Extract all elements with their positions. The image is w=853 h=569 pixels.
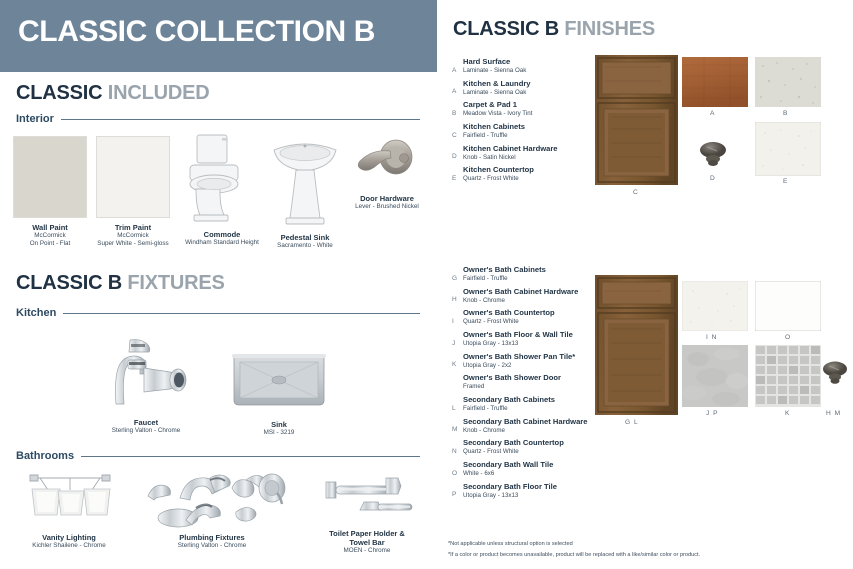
pedestal-sink-caption: Pedestal Sink Sacramento - White <box>255 233 355 250</box>
bathrooms-label: Bathrooms <box>16 450 74 462</box>
legend-letter: K <box>452 361 463 369</box>
door-hardware-caption: Door Hardware Lever - Brushed Nickel <box>336 194 438 211</box>
cabinet-knob-icon <box>693 138 733 172</box>
legend-letter: N <box>452 448 463 456</box>
swatch-quartz-e: E <box>755 122 821 181</box>
swatch-label-c: C <box>633 189 639 196</box>
legend-sub: Quartz - Frost White <box>463 318 555 325</box>
legend-letter: P <box>452 491 463 499</box>
item-door-hardware: Door Hardware Lever - Brushed Nickel <box>350 133 438 211</box>
swatch-label-o: O <box>785 334 791 341</box>
legend-letter: B <box>452 110 463 118</box>
swatch-label-gl: G L <box>625 419 639 426</box>
legend-letter: C <box>452 132 463 140</box>
item-sink: Sink MSI - 3219 <box>232 352 326 437</box>
swatch-laminate-a: A <box>682 57 748 112</box>
plumbing-fixtures-icon <box>140 472 300 530</box>
legend-name: Owner's Bath Cabinet Hardware <box>463 288 578 297</box>
swatch-floor-tile-jp: J P <box>682 345 748 412</box>
item-wall-paint: Wall Paint McCormick On Point - Flat <box>13 136 87 247</box>
item-sub1: Sterling Valton - Chrome <box>91 427 201 435</box>
legend-letter: H <box>452 296 463 304</box>
swatch-label-b: B <box>783 110 788 117</box>
cabinet-knob-icon <box>818 358 852 390</box>
legend-name: Secondary Bath Cabinets <box>463 396 555 405</box>
commode-icon <box>182 131 262 223</box>
towel-bar-icon <box>320 474 414 522</box>
item-sub1: McCormick <box>13 232 87 240</box>
pedestal-sink-icon <box>270 136 340 226</box>
swatch-label-jp: J P <box>706 410 719 417</box>
legend-letter: A <box>452 67 463 75</box>
trim-paint-swatch <box>96 136 170 218</box>
legend-item: A Kitchen & Laundry Laminate - Sienna Oa… <box>452 80 612 96</box>
collection-sheet: CLASSIC COLLECTION B CLASSIC INCLUDED In… <box>0 0 853 569</box>
legend-sub: Laminate - Sienna Oak <box>463 67 526 74</box>
legend-item: D Kitchen Cabinet Hardware Knob - Satin … <box>452 145 612 161</box>
cabinet-door-icon <box>595 275 678 415</box>
legend-sub: Framed <box>463 383 561 390</box>
legend-sub: Utopia Gray - 13x13 <box>463 340 573 347</box>
footnote-2: *If a color or product becomes unavailab… <box>448 552 700 558</box>
wall-paint-caption: Wall Paint McCormick On Point - Flat <box>13 223 87 247</box>
swatch-mosaic-k: K <box>755 345 821 412</box>
faucet-caption: Faucet Sterling Valton - Chrome <box>91 418 201 435</box>
legend-sub: Knob - Satin Nickel <box>463 154 558 161</box>
classic-finishes-heading: CLASSIC B FINISHES <box>453 18 655 41</box>
heading-dark: CLASSIC B <box>453 18 559 40</box>
legend-sub: White - 6x6 <box>463 470 553 477</box>
swatch-kitchen-cabinet-door: C <box>595 55 678 190</box>
swatch-label-e: E <box>783 178 788 185</box>
legend-item: B Carpet & Pad 1 Meadow Vista - Ivory Ti… <box>452 101 612 117</box>
legend-letter: G <box>452 275 463 283</box>
sink-icon <box>232 352 326 412</box>
legend-letter: J <box>452 340 463 348</box>
item-name: Vanity Lighting <box>13 533 125 542</box>
wall-paint-swatch <box>13 136 87 218</box>
footnote-1: *Not applicable unless structural option… <box>448 541 573 547</box>
classic-fixtures-heading: CLASSIC B FIXTURES <box>16 272 225 295</box>
towel-bar-caption: Toilet Paper Holder & Towel Bar MOEN - C… <box>306 529 428 555</box>
legend-item: N Secondary Bath Countertop Quartz - Fro… <box>452 439 627 455</box>
item-plumbing-fixtures: Plumbing Fixtures Sterling Valton - Chro… <box>140 472 300 550</box>
page-title: CLASSIC COLLECTION B <box>18 15 375 49</box>
legend-name: Owner's Bath Floor & Wall Tile <box>463 331 573 340</box>
item-name: Pedestal Sink <box>255 233 355 242</box>
legend-name: Hard Surface <box>463 58 526 67</box>
divider-rule <box>81 456 420 457</box>
item-sub1: Sterling Valton - Chrome <box>150 542 274 550</box>
legend-sub: Knob - Chrome <box>463 427 588 434</box>
mosaic-tile-swatch-icon <box>755 345 821 407</box>
finishes-legend-top: A Hard Surface Laminate - Sienna Oak A K… <box>452 58 612 188</box>
legend-item: C Kitchen Cabinets Fairfield - Truffle <box>452 123 612 139</box>
divider-rule <box>63 313 420 314</box>
legend-name: Owner's Bath Cabinets <box>463 266 546 275</box>
item-name: Door Hardware <box>336 194 438 203</box>
legend-name: Owner's Bath Countertop <box>463 309 555 318</box>
kitchen-label: Kitchen <box>16 307 56 319</box>
swatch-label-a: A <box>710 110 715 117</box>
item-sub1: Sacramento - White <box>255 242 355 250</box>
legend-sub: Quartz - Frost White <box>463 175 534 182</box>
legend-item: A Hard Surface Laminate - Sienna Oak <box>452 58 612 74</box>
legend-name: Secondary Bath Countertop <box>463 439 564 448</box>
carpet-swatch-icon <box>755 57 821 107</box>
heading-dark: CLASSIC <box>16 82 102 104</box>
item-pedestal-sink: Pedestal Sink Sacramento - White <box>270 136 355 250</box>
legend-letter: L <box>452 405 463 413</box>
legend-name: Secondary Bath Cabinet Hardware <box>463 418 588 427</box>
swatch-bath-cabinet-door: G L <box>595 275 678 420</box>
sink-caption: Sink MSI - 3219 <box>232 420 326 437</box>
legend-name: Secondary Bath Floor Tile <box>463 483 557 492</box>
item-name: Wall Paint <box>13 223 87 232</box>
legend-sub: Meadow Vista - Ivory Tint <box>463 110 532 117</box>
item-sub1: MSI - 3219 <box>232 429 326 437</box>
bathrooms-subheader: Bathrooms <box>16 450 420 462</box>
right-column: CLASSIC B FINISHES A Hard Surface Lamina… <box>448 0 853 569</box>
swatch-label-d: D <box>710 175 716 182</box>
legend-letter: O <box>452 470 463 478</box>
quartz-swatch-icon <box>682 281 748 331</box>
legend-sub: Fairfield - Truffle <box>463 275 546 282</box>
legend-name: Owner's Bath Shower Door <box>463 374 561 383</box>
swatch-quartz-in: I N <box>682 281 748 336</box>
door-lever-icon <box>350 133 422 185</box>
swatch-carpet-b: B <box>755 57 821 112</box>
plumbing-caption: Plumbing Fixtures Sterling Valton - Chro… <box>150 533 274 550</box>
item-sub1: MOEN - Chrome <box>306 547 428 555</box>
legend-name: Kitchen Cabinet Hardware <box>463 145 558 154</box>
white-tile-swatch-icon <box>755 281 821 331</box>
heading-light: FINISHES <box>564 18 655 40</box>
heading-light: INCLUDED <box>108 82 210 104</box>
item-name: Toilet Paper Holder & Towel Bar <box>306 529 428 547</box>
swatch-white-tile-o: O <box>755 281 821 336</box>
legend-sub: Fairfield - Truffle <box>463 405 555 412</box>
legend-name: Carpet & Pad 1 <box>463 101 532 110</box>
legend-letter: I <box>452 318 463 326</box>
swatch-knob-hm: H M <box>818 358 852 395</box>
quartz-swatch-icon <box>755 122 821 176</box>
item-name: Plumbing Fixtures <box>150 533 274 542</box>
item-sub1: Kichler Shailene - Chrome <box>13 542 125 550</box>
kitchen-subheader: Kitchen <box>16 307 420 319</box>
legend-item: O Secondary Bath Wall Tile White - 6x6 <box>452 461 627 477</box>
item-name: Sink <box>232 420 326 429</box>
faucet-icon <box>100 338 192 410</box>
heading-dark: CLASSIC B <box>16 272 122 294</box>
legend-name: Kitchen Cabinets <box>463 123 525 132</box>
classic-included-heading: CLASSIC INCLUDED <box>16 82 209 105</box>
item-vanity-lighting: Vanity Lighting Kichler Shailene - Chrom… <box>18 472 125 550</box>
item-name: Faucet <box>91 418 201 427</box>
swatch-knob-d: D <box>693 138 733 177</box>
legend-letter: M <box>452 426 463 434</box>
item-sub2: On Point - Flat <box>13 240 87 248</box>
item-commode: Commode Windham Standard Height <box>182 131 278 247</box>
header-banner: CLASSIC COLLECTION B <box>0 0 437 72</box>
legend-item: E Kitchen Countertop Quartz - Frost Whit… <box>452 166 612 182</box>
cabinet-door-icon <box>595 55 678 185</box>
legend-sub: Knob - Chrome <box>463 297 578 304</box>
swatch-label-k: K <box>785 410 790 417</box>
legend-name: Secondary Bath Wall Tile <box>463 461 553 470</box>
laminate-swatch-icon <box>682 57 748 107</box>
vanity-lighting-icon <box>18 472 122 524</box>
legend-letter: D <box>452 153 463 161</box>
interior-label: Interior <box>16 113 54 125</box>
legend-letter <box>452 390 463 391</box>
legend-name: Kitchen & Laundry <box>463 80 531 89</box>
legend-letter: E <box>452 175 463 183</box>
legend-sub: Fairfield - Truffle <box>463 132 525 139</box>
swatch-label-hm: H M <box>826 410 841 417</box>
heading-light: FIXTURES <box>127 272 224 294</box>
legend-sub: Utopia Gray - 2x2 <box>463 362 575 369</box>
item-sub1: Lever - Brushed Nickel <box>336 203 438 211</box>
legend-item: P Secondary Bath Floor Tile Utopia Gray … <box>452 483 627 499</box>
gray-tile-swatch-icon <box>682 345 748 407</box>
divider-rule <box>61 119 420 120</box>
legend-sub: Utopia Gray - 13x13 <box>463 492 557 499</box>
swatch-label-in: I N <box>706 334 717 341</box>
legend-name: Kitchen Countertop <box>463 166 534 175</box>
item-faucet: Faucet Sterling Valton - Chrome <box>100 338 201 435</box>
legend-letter: A <box>452 88 463 96</box>
legend-sub: Quartz - Frost White <box>463 448 564 455</box>
legend-name: Owner's Bath Shower Pan Tile* <box>463 353 575 362</box>
left-column: CLASSIC COLLECTION B CLASSIC INCLUDED In… <box>0 0 440 569</box>
vanity-caption: Vanity Lighting Kichler Shailene - Chrom… <box>13 533 125 550</box>
item-towel-bar: Toilet Paper Holder & Towel Bar MOEN - C… <box>320 474 428 555</box>
legend-item: M Secondary Bath Cabinet Hardware Knob -… <box>452 418 627 434</box>
legend-sub: Laminate - Sienna Oak <box>463 89 531 96</box>
interior-subheader: Interior <box>16 113 420 125</box>
